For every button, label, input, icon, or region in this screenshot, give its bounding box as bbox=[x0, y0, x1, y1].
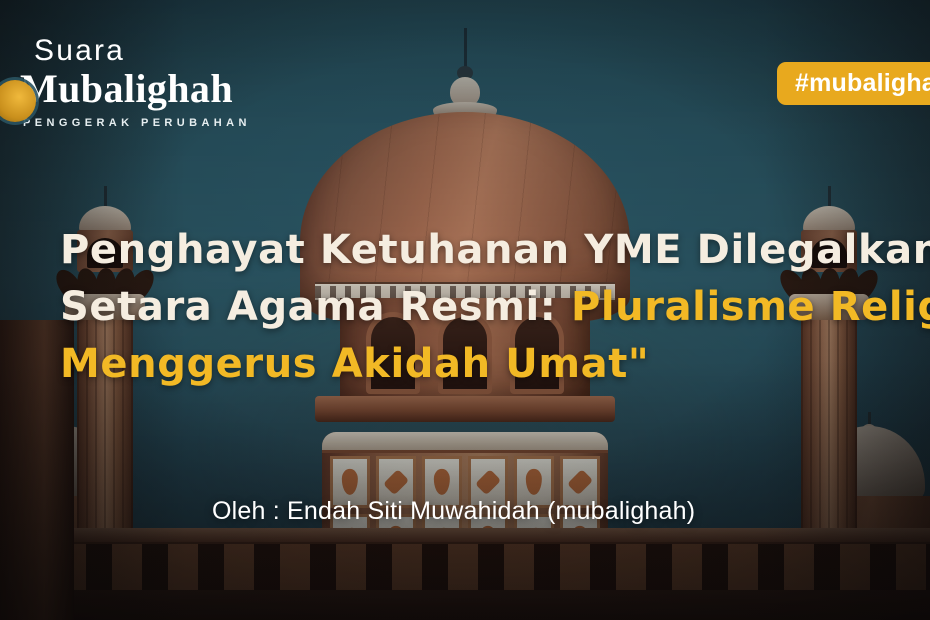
headline-line-1: Penghayat Ketuhanan YME Dilegalkan bbox=[60, 222, 930, 279]
headline-line2-plain: Setara Agama Resmi: bbox=[60, 284, 571, 330]
brand-logo[interactable]: Suara Mubalighah PENGGERAK PERUBAHAN bbox=[20, 36, 251, 129]
headline-line3-accent: Menggerus Akidah Umat" bbox=[60, 341, 649, 387]
poster-canvas: Suara Mubalighah PENGGERAK PERUBAHAN #mu… bbox=[0, 0, 930, 620]
hashtag-badge[interactable]: #mubalighah bbox=[777, 62, 930, 105]
brand-tagline: PENGGERAK PERUBAHAN bbox=[20, 117, 251, 129]
brand-name-line2: Mubalighah bbox=[20, 68, 251, 110]
headline-line1-text: Penghayat Ketuhanan YME Dilegalkan bbox=[60, 227, 930, 273]
gold-circle-emblem-icon bbox=[0, 80, 36, 122]
headline-line-3: Menggerus Akidah Umat" bbox=[60, 336, 930, 393]
headline-line-2: Setara Agama Resmi: Pluralisme Religius bbox=[60, 279, 930, 336]
byline-text: Oleh : Endah Siti Muwahidah (mubalighah) bbox=[212, 497, 695, 525]
brand-name-line1: Suara bbox=[20, 36, 251, 66]
byline: Oleh : Endah Siti Muwahidah (mubalighah) bbox=[212, 497, 695, 526]
headline: Penghayat Ketuhanan YME Dilegalkan Setar… bbox=[60, 222, 930, 392]
hashtag-badge-label: #mubalighah bbox=[795, 69, 930, 98]
headline-line2-accent: Pluralisme Religius bbox=[571, 284, 930, 330]
